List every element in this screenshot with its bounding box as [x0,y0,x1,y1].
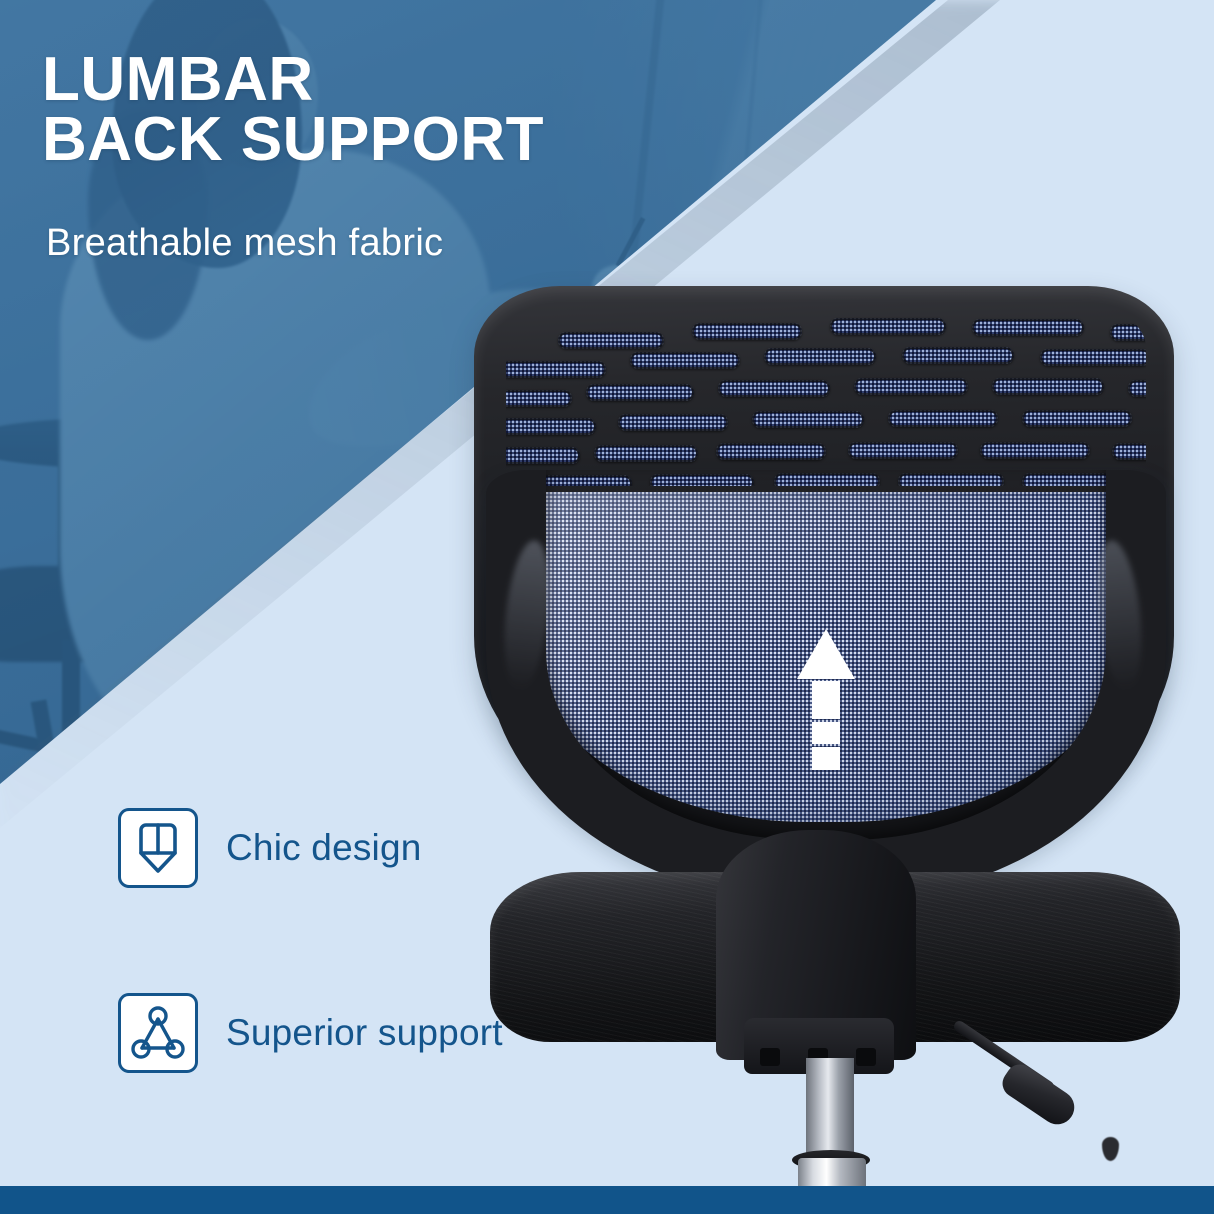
feature-item-superior-support: Superior support [118,993,503,1073]
gas-cylinder-shaft [806,1058,854,1162]
post-vent-slit [760,1048,780,1066]
pencil-icon [118,808,198,888]
decorative-speck [1102,1137,1119,1161]
ventilation-slot-panel [506,306,1146,486]
banner-canvas: LUMBAR BACK SUPPORT Breathable mesh fabr… [0,0,1214,1214]
feature-label: Superior support [226,1012,503,1054]
lumbar-arrow-icon [795,627,857,772]
post-vent-slit [856,1048,876,1066]
height-adjust-lever-knob[interactable] [997,1059,1081,1131]
triangle-nodes-icon [118,993,198,1073]
footer-brand-bar [0,1186,1214,1214]
feature-item-chic-design: Chic design [118,808,422,888]
feature-label: Chic design [226,827,422,869]
